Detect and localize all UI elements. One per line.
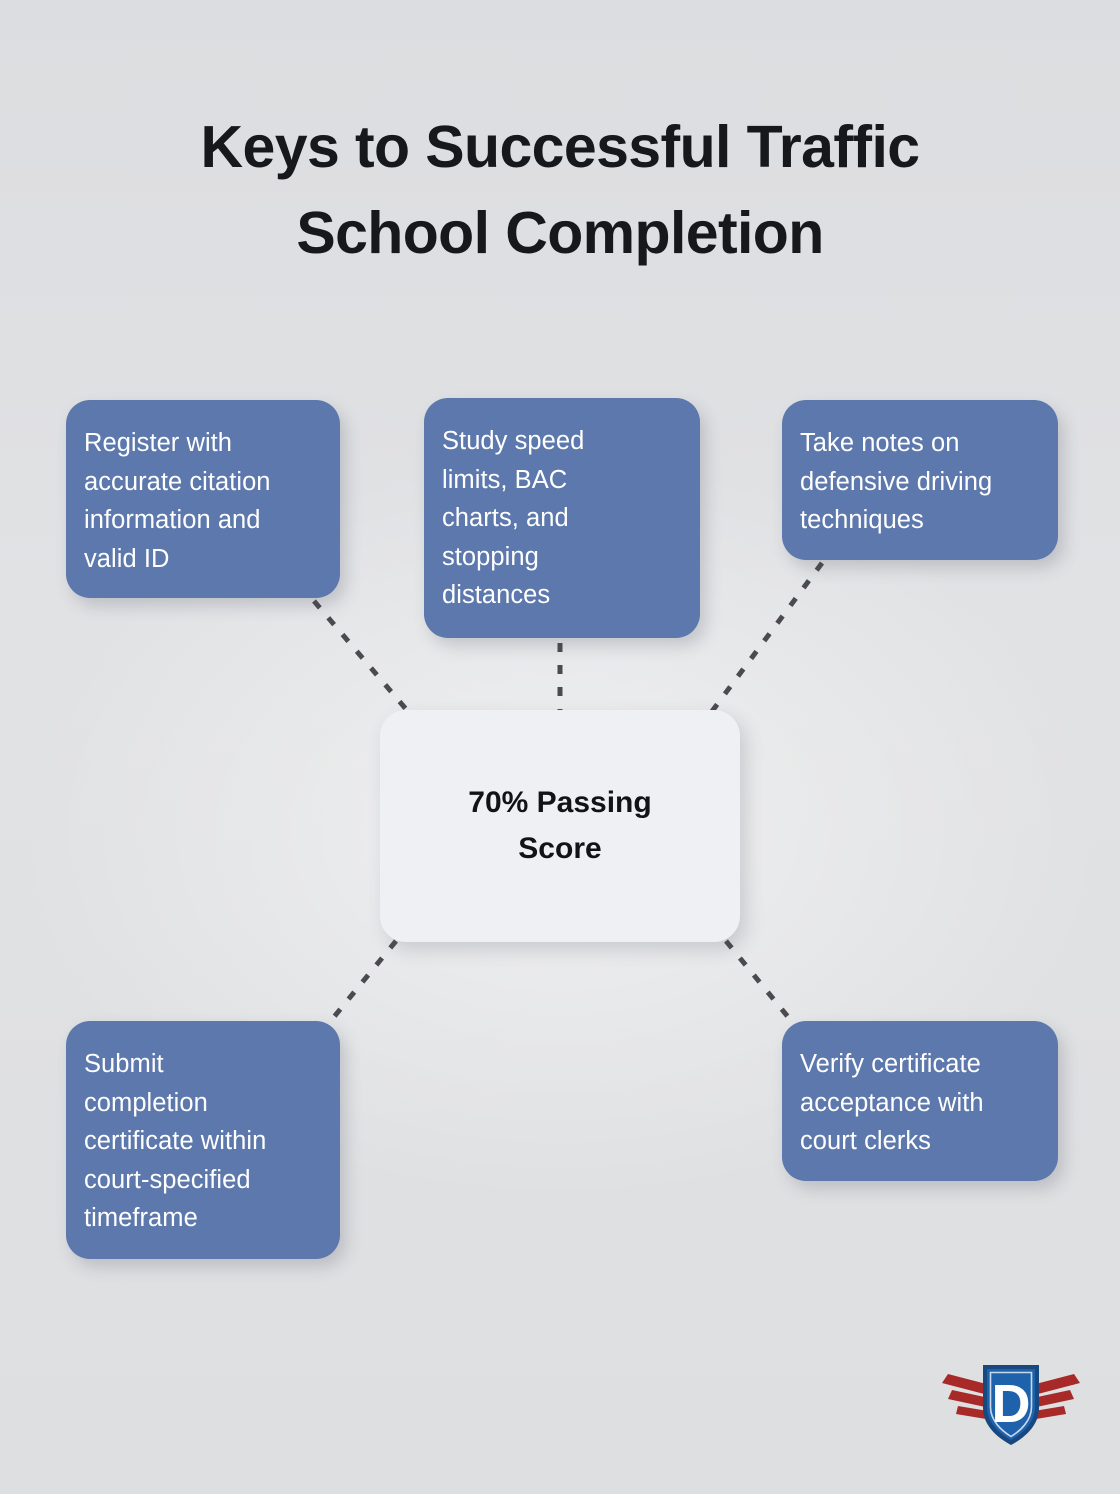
node-study-label: Study speed limits, BAC charts, and stop…	[442, 422, 584, 615]
center-node-passing-score[interactable]: 70% Passing Score	[380, 710, 740, 942]
center-node-label: 70% Passing Score	[468, 780, 651, 872]
page-title-line-2: School Completion	[0, 190, 1120, 276]
connector-submit	[329, 941, 396, 1023]
node-submit-label: Submit completion certificate within cou…	[84, 1045, 266, 1238]
node-take-notes[interactable]: Take notes on defensive driving techniqu…	[782, 400, 1058, 560]
node-verify-label: Verify certificate acceptance with court…	[800, 1045, 984, 1161]
page-title-line-1: Keys to Successful Traffic	[0, 104, 1120, 190]
node-study[interactable]: Study speed limits, BAC charts, and stop…	[424, 398, 700, 638]
shield-wings-logo: D	[938, 1352, 1084, 1450]
page-title: Keys to Successful Traffic School Comple…	[0, 104, 1120, 276]
shield-letter-d: D	[992, 1374, 1031, 1434]
node-submit[interactable]: Submit completion certificate within cou…	[66, 1021, 340, 1259]
node-register-label: Register with accurate citation informat…	[84, 424, 271, 578]
connector-take-notes	[710, 563, 822, 714]
node-verify[interactable]: Verify certificate acceptance with court…	[782, 1021, 1058, 1181]
infographic-canvas: Keys to Successful Traffic School Comple…	[0, 0, 1120, 1494]
connector-register	[314, 601, 411, 715]
connector-verify	[726, 941, 793, 1023]
node-register[interactable]: Register with accurate citation informat…	[66, 400, 340, 598]
node-take-notes-label: Take notes on defensive driving techniqu…	[800, 424, 992, 540]
